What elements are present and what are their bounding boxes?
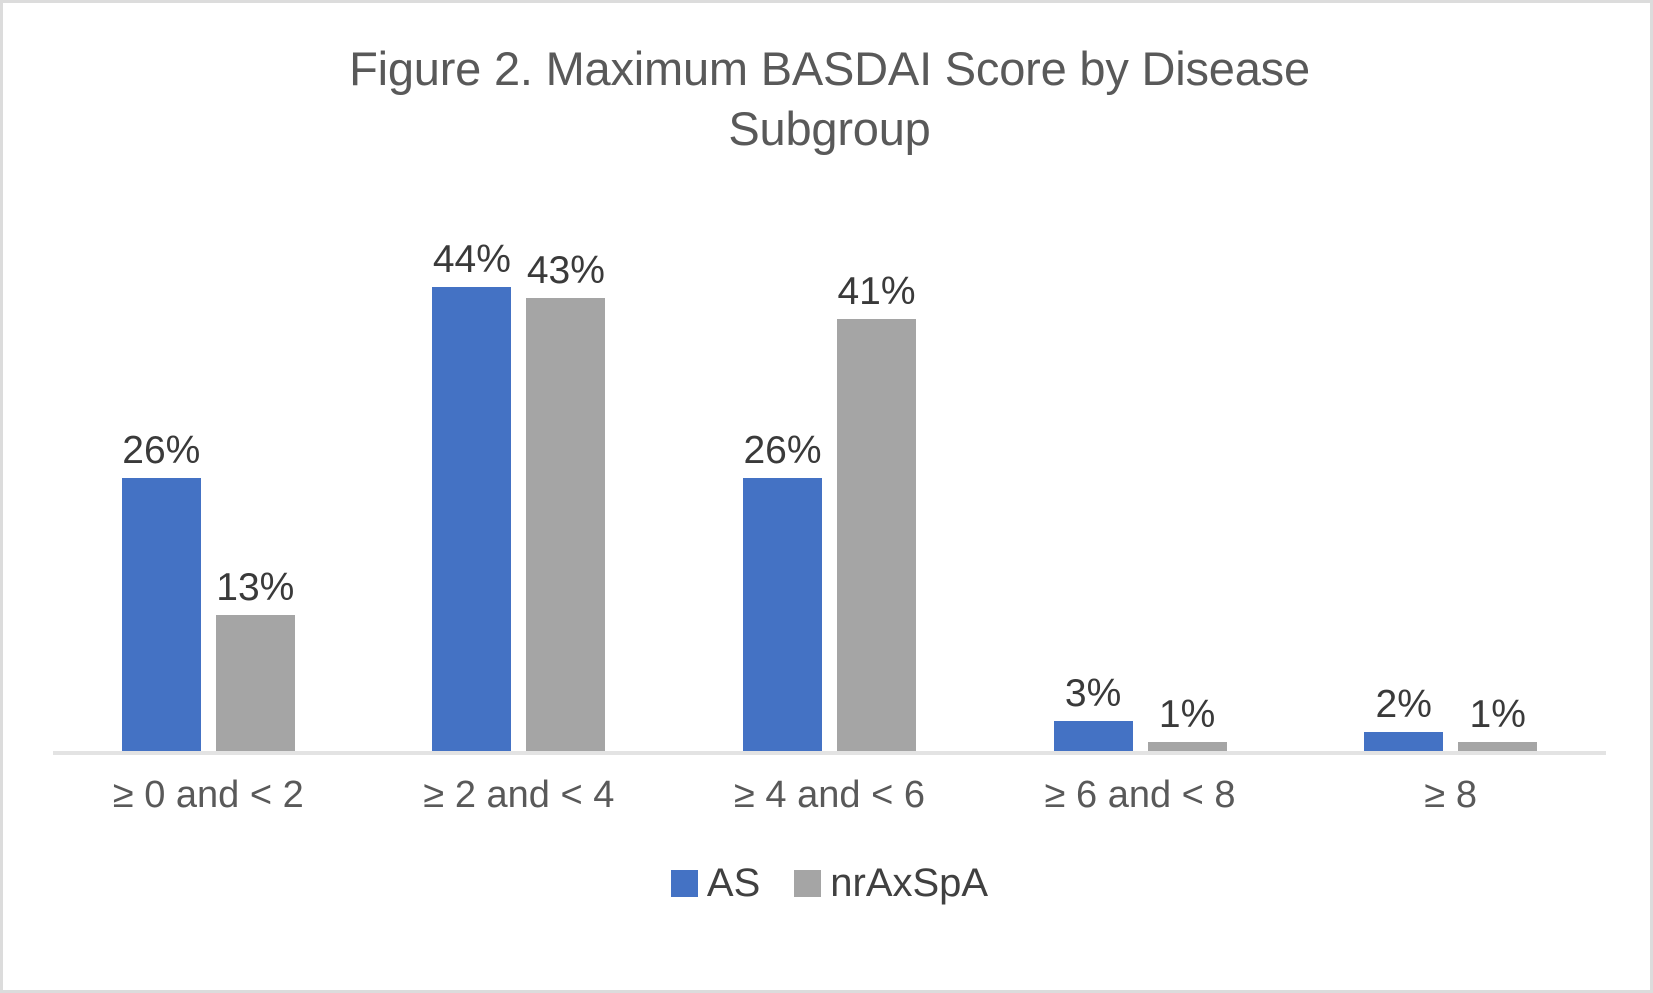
bar-nraxspa-1[interactable] [526,298,605,753]
plot-area: 26%13%44%43%26%41%3%1%2%1% [53,193,1606,753]
bar-value-label: 26% [122,431,200,470]
legend-item-as[interactable]: AS [671,863,760,903]
bar-as-3[interactable] [1054,721,1133,753]
category-label-0: ≥ 0 and < 2 [53,773,364,819]
bar-value-label: 26% [743,431,821,470]
bar-value-label: 41% [837,272,915,311]
bar-value-label: 1% [1470,695,1526,734]
category-label-1: ≥ 2 and < 4 [364,773,675,819]
legend-label: nrAxSpA [830,863,988,903]
category-axis-line [53,751,1606,755]
chart-container: Figure 2. Maximum BASDAI Score by Diseas… [0,0,1653,993]
bar-nraxspa-2[interactable] [837,319,916,753]
bar-as-1[interactable] [432,287,511,753]
category-label-3: ≥ 6 and < 8 [985,773,1296,819]
bar-value-label: 44% [433,240,511,279]
legend-label: AS [707,863,760,903]
bar-as-0[interactable] [122,478,201,753]
legend-swatch-icon [794,870,821,897]
bar-nraxspa-0[interactable] [216,615,295,753]
category-axis-labels: ≥ 0 and < 2≥ 2 and < 4≥ 4 and < 6≥ 6 and… [53,773,1606,833]
chart-legend: ASnrAxSpA [3,863,1653,903]
bar-as-2[interactable] [743,478,822,753]
category-label-4: ≥ 8 [1295,773,1606,819]
bar-value-label: 3% [1065,674,1121,713]
bar-value-label: 43% [527,251,605,290]
bar-as-4[interactable] [1364,732,1443,753]
legend-item-nraxspa[interactable]: nrAxSpA [794,863,988,903]
chart-title: Figure 2. Maximum BASDAI Score by Diseas… [123,39,1536,159]
legend-swatch-icon [671,870,698,897]
chart-title-line-1: Figure 2. Maximum BASDAI Score by Diseas… [349,42,1310,95]
category-label-2: ≥ 4 and < 6 [674,773,985,819]
bar-value-label: 13% [216,568,294,607]
chart-title-line-2: Subgroup [728,102,930,155]
bar-value-label: 1% [1159,695,1215,734]
bar-value-label: 2% [1376,685,1432,724]
